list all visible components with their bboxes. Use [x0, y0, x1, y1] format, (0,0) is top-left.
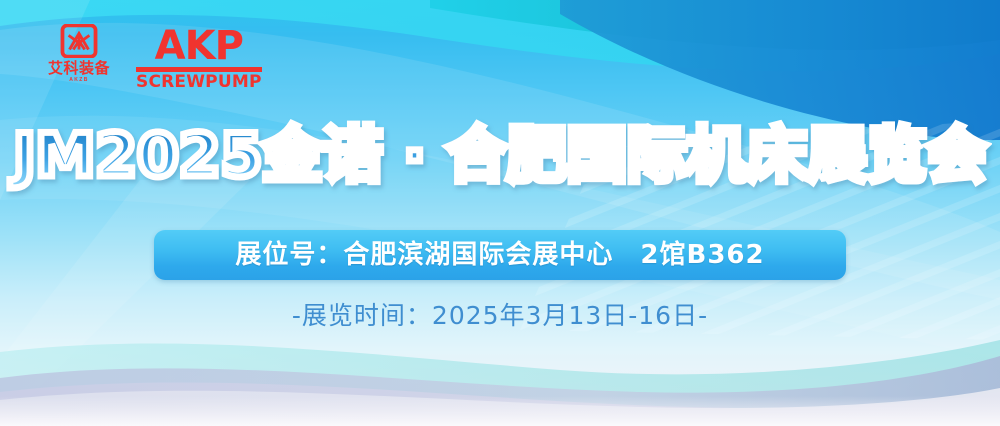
- akp-wordmark: AKP: [155, 27, 243, 65]
- akp-logo: AKP SCREWPUMP: [136, 27, 262, 91]
- akp-subtitle: SCREWPUMP: [136, 74, 262, 91]
- exhibition-banner: 艾科装备 AKZB AKP SCREWPUMP JM2025金诺 · 合肥国际机…: [0, 0, 1000, 426]
- exhibition-date-text: -展览时间：2025年3月13日-16日-: [292, 301, 708, 330]
- akzb-diamond-mark-icon: [60, 24, 98, 58]
- date-line: -展览时间：2025年3月13日-16日-: [0, 303, 1000, 329]
- akzb-english-name: AKZB: [69, 78, 89, 83]
- booth-info-bar: 展位号：合肥滨湖国际会展中心 2馆B362: [154, 230, 846, 280]
- booth-info-text: 展位号：合肥滨湖国际会展中心 2馆B362: [235, 242, 764, 268]
- akzb-logo: 艾科装备 AKZB: [48, 24, 110, 83]
- exhibition-title: JM2025金诺 · 合肥国际机床展览会: [13, 126, 987, 186]
- logo-row: 艾科装备 AKZB AKP SCREWPUMP: [48, 24, 262, 91]
- akzb-chinese-name: 艾科装备: [48, 61, 110, 76]
- title-wrap: JM2025金诺 · 合肥国际机床展览会: [0, 126, 1000, 186]
